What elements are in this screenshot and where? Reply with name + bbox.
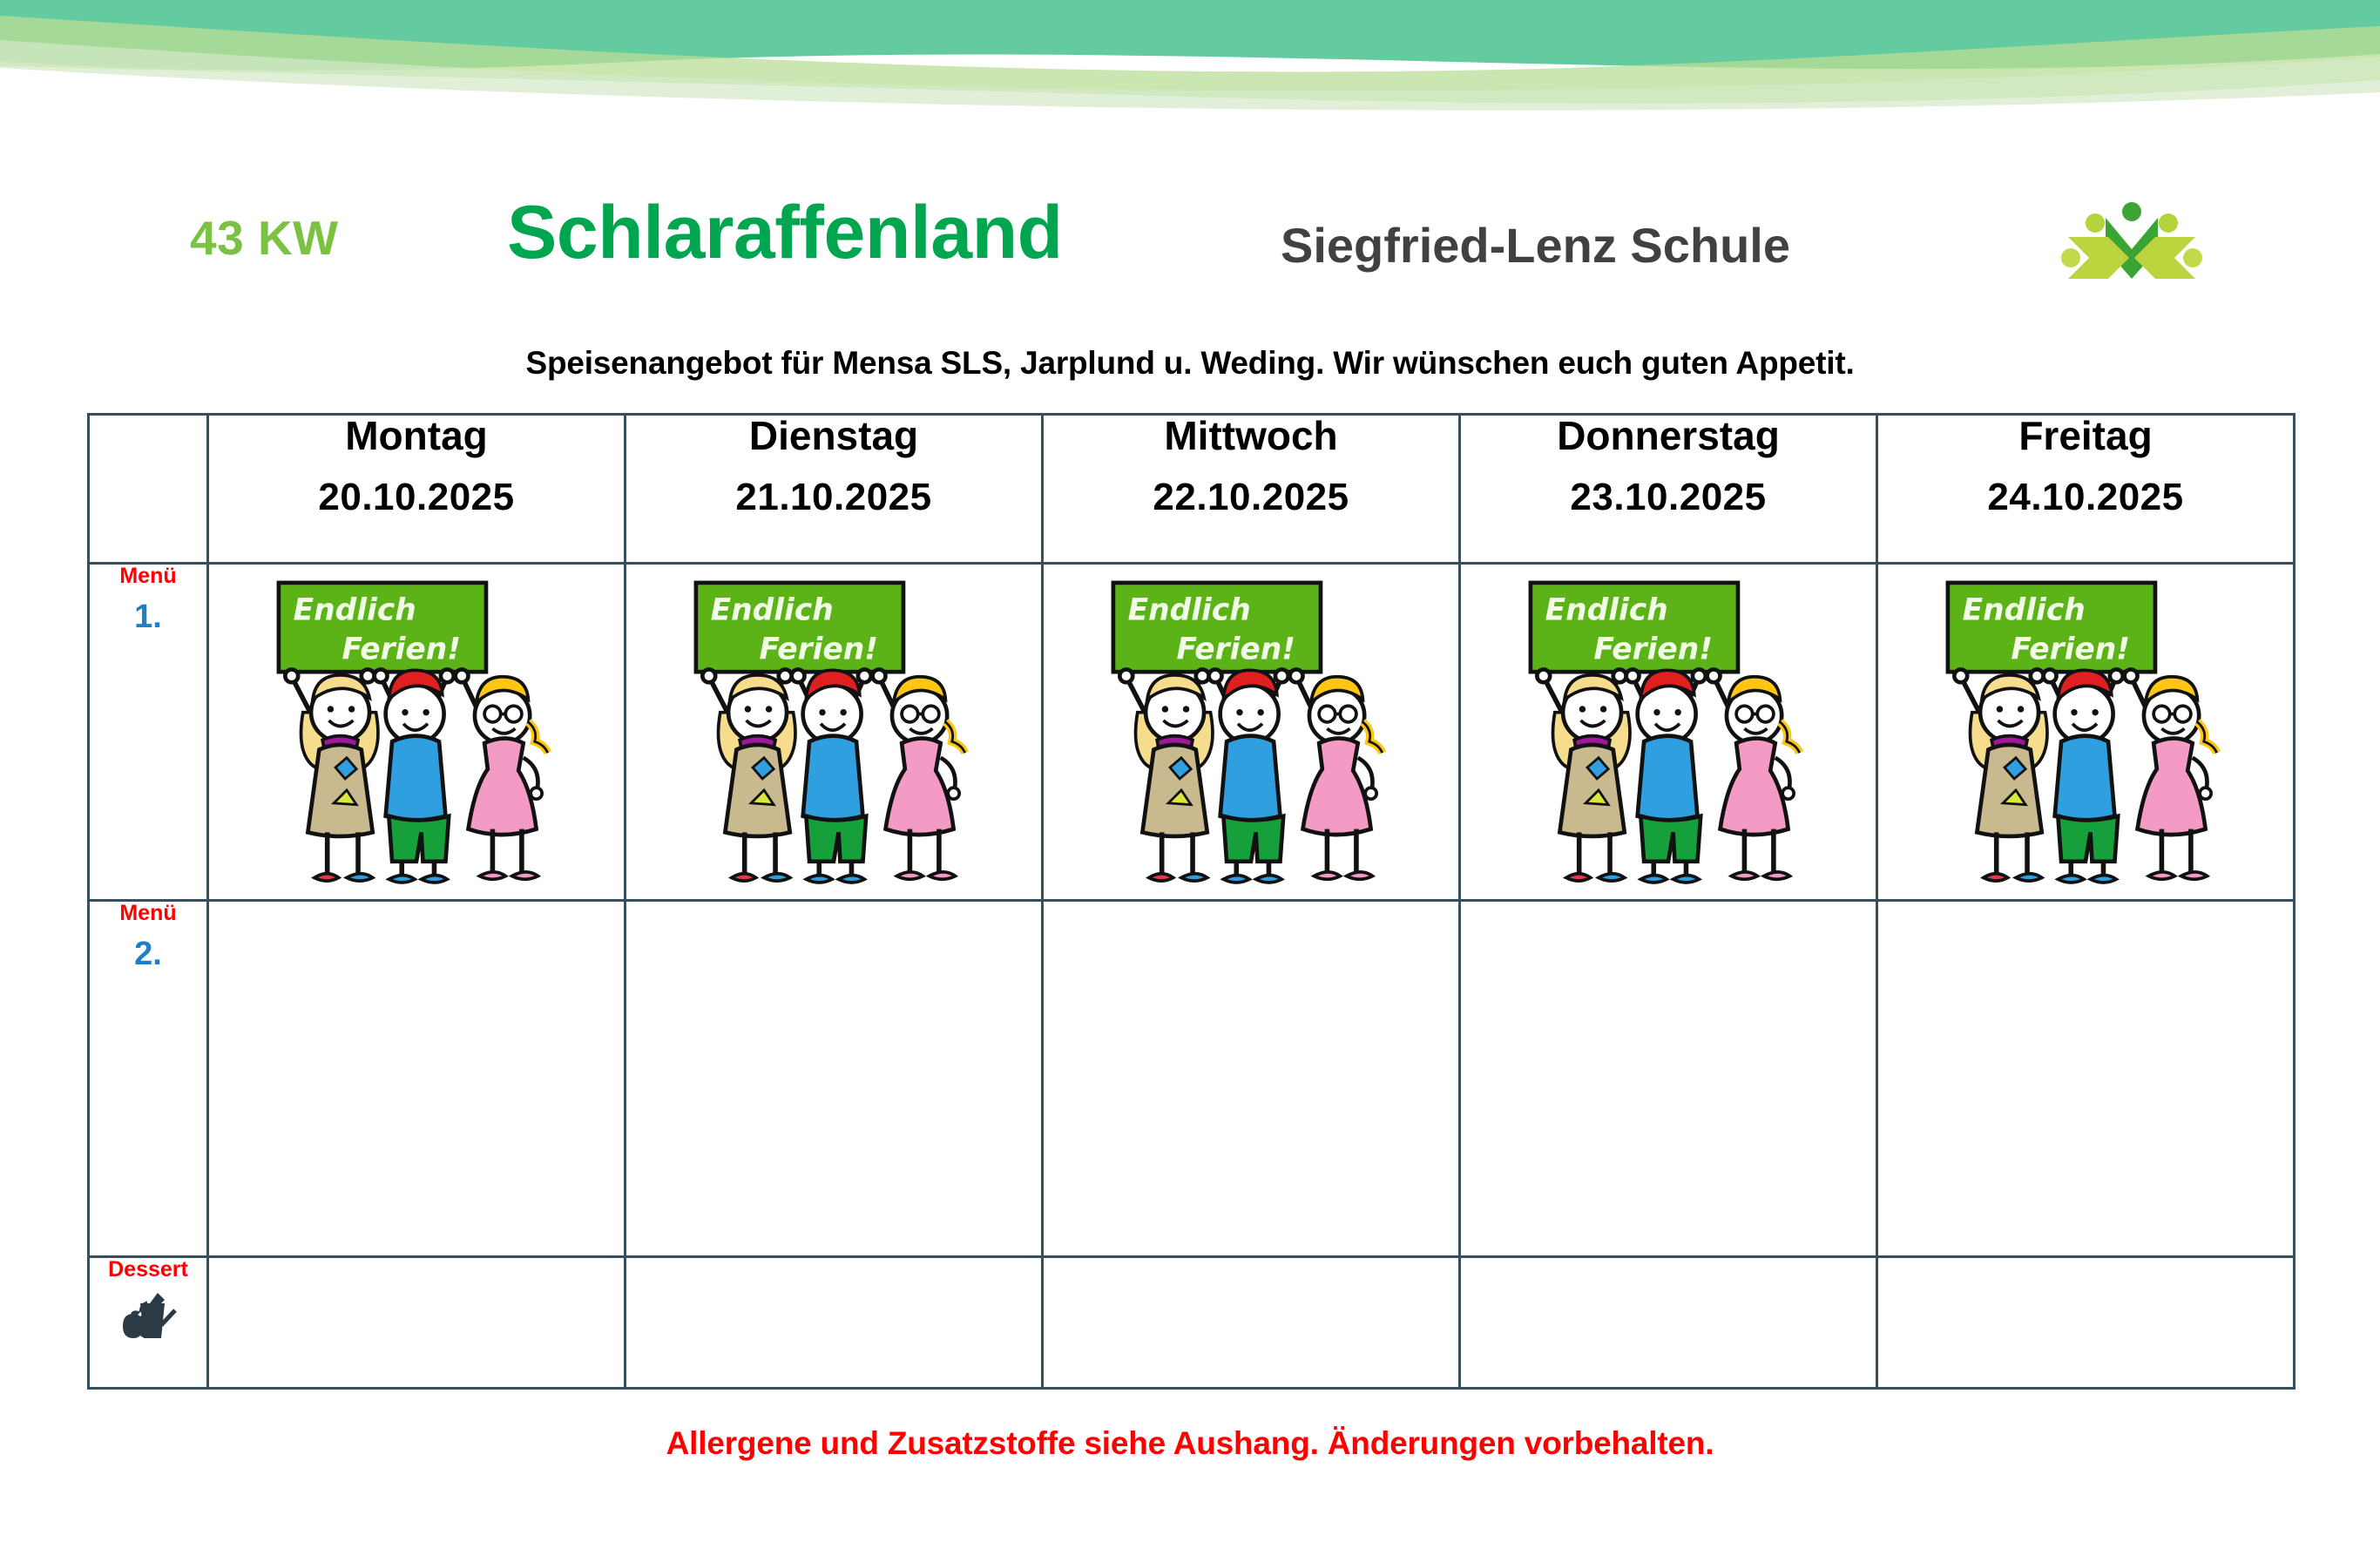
child-right [2125,669,2217,879]
ferien-sign-line1: Endlich [1128,593,1251,628]
ferien-sign-line2: Ferien! [341,632,460,666]
ferien-sign-line1: Endlich [1963,593,2086,628]
wave-shape-mid [0,16,2380,104]
day-name: Mittwoch [1044,416,1458,456]
logo-head-lower-left [2061,248,2080,267]
ferien-sign-line2: Ferien! [1593,632,1712,666]
logo-head-left [2086,213,2105,233]
dessert-cell-wednesday [1043,1257,1460,1389]
table-row-menu-2: Menü 2. [89,901,2295,1257]
dessert-cell-friday [1877,1257,2295,1389]
child-center [1209,669,1288,883]
child-right [1290,669,1383,879]
menu-cell-monday-1: Endlich Ferien! [208,564,625,901]
dessert-cell-thursday [1460,1257,1877,1389]
endlich-ferien-illustration: Endlich Ferien! [1089,570,1413,894]
day-date: 20.10.2025 [209,478,624,517]
menu-cell-thursday-1: Endlich Ferien! [1460,564,1877,901]
row-label-text: Menü [90,565,206,589]
apple-drink-icon [119,1291,177,1340]
row-label-menu-1: Menü 1. [89,564,208,901]
menu-cell-wednesday-2 [1043,901,1460,1257]
decorative-wave-banner [0,0,2380,118]
endlich-ferien-illustration: Endlich Ferien! [1506,570,1830,894]
day-date: 24.10.2025 [1878,478,2293,517]
row-number-text: 2. [90,937,206,973]
ferien-sign-line1: Endlich [294,593,416,628]
day-name: Donnerstag [1461,416,1876,456]
day-header-friday: Freitag 24.10.2025 [1877,415,2295,564]
ferien-sign-line1: Endlich [1545,593,1668,628]
menu-cell-wednesday-1: Endlich Ferien! [1043,564,1460,901]
day-header-monday: Montag 20.10.2025 [208,415,625,564]
menu-cell-tuesday-2 [625,901,1043,1257]
page-title: Schlaraffenland [507,195,1063,270]
day-name: Freitag [1878,416,2293,456]
table-corner-cell [89,415,208,564]
endlich-ferien-illustration: Endlich Ferien! [254,570,578,894]
row-label-text: Dessert [90,1258,206,1282]
wave-shape-light [0,0,2380,111]
ferien-sign-line2: Ferien! [1176,632,1295,666]
day-header-wednesday: Mittwoch 22.10.2025 [1043,415,1460,564]
logo-head-lower-right [2183,248,2202,267]
school-name: Siegfried-Lenz Schule [1281,221,1790,270]
subtitle-text: Speisenangebot für Mensa SLS, Jarplund u… [0,345,2380,382]
row-number-text: 1. [90,599,206,636]
endlich-ferien-illustration: Endlich Ferien! [1924,570,2248,894]
wave-shape-dark [0,0,2380,71]
row-label-menu-2: Menü 2. [89,901,208,1257]
ferien-sign-line2: Ferien! [2011,632,2129,666]
table-header-row: Montag 20.10.2025 Dienstag 21.10.2025 Mi… [89,415,2295,564]
row-label-text: Menü [90,902,206,926]
endlich-ferien-illustration: Endlich Ferien! [672,570,996,894]
day-date: 22.10.2025 [1044,478,1458,517]
child-right [456,669,548,879]
child-right [1707,669,1800,879]
menu-cell-friday-2 [1877,901,2295,1257]
ferien-sign-line2: Ferien! [759,632,877,666]
table-row-dessert: Dessert [89,1257,2295,1389]
child-center [792,669,871,883]
row-label-dessert: Dessert [89,1257,208,1389]
menu-cell-monday-2 [208,901,625,1257]
logo-head-center [2122,202,2141,221]
day-date: 23.10.2025 [1461,478,1876,517]
dessert-cell-tuesday [625,1257,1043,1389]
child-right [873,669,965,879]
child-center [1626,669,1706,883]
child-left [1954,669,2047,881]
child-left [285,669,378,881]
day-name: Dienstag [626,416,1041,456]
day-header-tuesday: Dienstag 21.10.2025 [625,415,1043,564]
apple-shape [123,1314,158,1338]
allergen-note: Allergene und Zusatzstoffe siehe Aushang… [0,1425,2380,1462]
child-center [2044,669,2123,883]
schlaraffenland-logo [2058,199,2206,294]
menu-cell-friday-1: Endlich Ferien! [1877,564,2295,901]
child-left [1537,669,1630,881]
ferien-sign-line1: Endlich [711,593,834,628]
day-header-thursday: Donnerstag 23.10.2025 [1460,415,1877,564]
child-left [702,669,795,881]
child-left [1119,669,1213,881]
menu-cell-tuesday-1: Endlich Ferien! [625,564,1043,901]
child-center [375,669,454,883]
menu-cell-thursday-2 [1460,901,1877,1257]
calendar-week-label: 43 KW [190,214,339,262]
day-date: 21.10.2025 [626,478,1041,517]
day-name: Montag [209,416,624,456]
table-row-menu-1: Menü 1. Endlich Ferien! [89,564,2295,901]
dessert-cell-monday [208,1257,625,1389]
logo-head-right [2159,213,2178,233]
weekly-menu-table: Montag 20.10.2025 Dienstag 21.10.2025 Mi… [87,413,2295,1390]
